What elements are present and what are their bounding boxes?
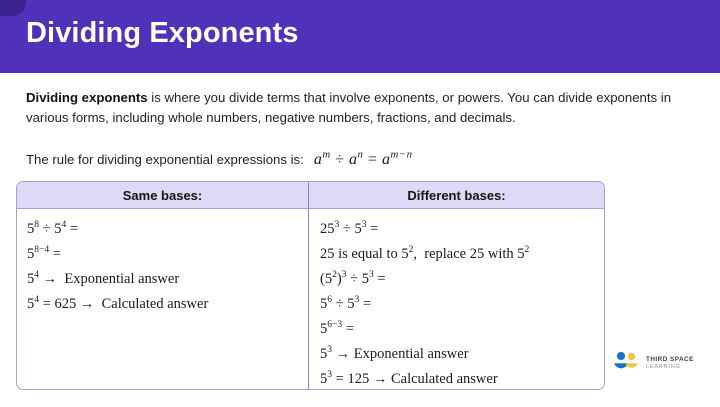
page-title: Dividing Exponents bbox=[26, 17, 299, 50]
equation-line: 58−4 = bbox=[27, 242, 308, 267]
table-header-different-bases: Different bases: bbox=[309, 182, 604, 208]
table-cell-same-bases: 58 ÷ 54 = 58−4 = 54 → Exponential answer… bbox=[17, 209, 309, 390]
intro-paragraph: Dividing exponents is where you divide t… bbox=[26, 88, 692, 127]
logo-wordmark: THIRD SPACE LEARNING bbox=[646, 356, 694, 370]
equation-line: (52)3 ÷ 53 = bbox=[320, 267, 604, 292]
brand-logo: THIRD SPACE LEARNING bbox=[612, 348, 710, 378]
equation-line: 53 → Exponential answer bbox=[320, 342, 604, 367]
rule-label: The rule for dividing exponential expres… bbox=[26, 152, 304, 167]
equation-line: 253 ÷ 53 = bbox=[320, 217, 604, 242]
table-body-row: 58 ÷ 54 = 58−4 = 54 → Exponential answer… bbox=[17, 209, 604, 390]
equation-line: 56−3 = bbox=[320, 317, 604, 342]
header-corner-accent bbox=[0, 0, 26, 16]
equation-line: 54 = 625 → Calculated answer bbox=[27, 292, 308, 317]
logo-line-2: LEARNING bbox=[646, 364, 694, 370]
equation-line: 53 = 125 → Calculated answer bbox=[320, 367, 604, 390]
comparison-table: Same bases: Different bases: 58 ÷ 54 = 5… bbox=[16, 181, 605, 390]
table-header-row: Same bases: Different bases: bbox=[17, 182, 604, 209]
rule-formula: am ÷ an = am−n bbox=[314, 151, 413, 168]
equation-line: 25 is equal to 52, replace 25 with 52 bbox=[320, 242, 604, 267]
table-cell-different-bases: 253 ÷ 53 = 25 is equal to 52, replace 25… bbox=[309, 209, 604, 390]
equation-line: 54 → Exponential answer bbox=[27, 267, 308, 292]
logo-line-1: THIRD SPACE bbox=[646, 356, 694, 363]
slide-root: Dividing Exponents Dividing exponents is… bbox=[0, 0, 720, 407]
equation-line: 58 ÷ 54 = bbox=[27, 217, 308, 242]
equation-line: 56 ÷ 53 = bbox=[320, 292, 604, 317]
table-header-same-bases: Same bases: bbox=[17, 182, 309, 208]
people-icon bbox=[612, 350, 641, 376]
header-banner: Dividing Exponents bbox=[0, 0, 720, 73]
rule-line: The rule for dividing exponential expres… bbox=[26, 150, 413, 170]
intro-lead: Dividing exponents bbox=[26, 90, 148, 105]
